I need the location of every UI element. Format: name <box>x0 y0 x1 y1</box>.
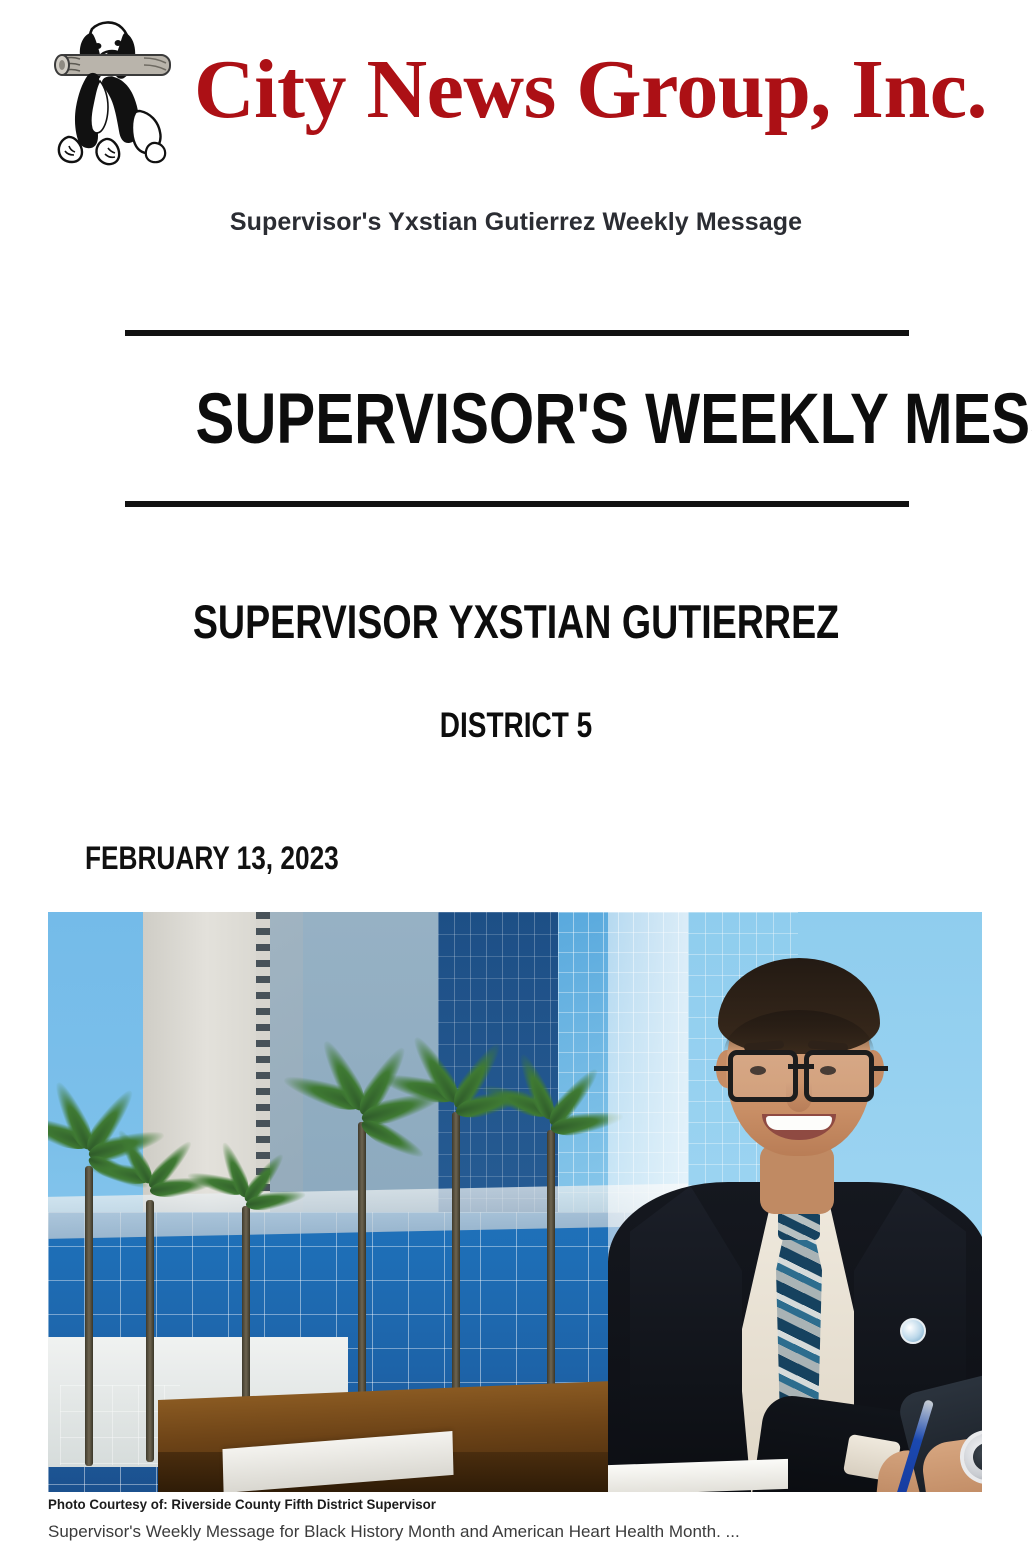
publication-date: FEBRUARY 13, 2023 <box>85 842 339 874</box>
eyeglasses-icon <box>728 1050 874 1094</box>
portrait-hair <box>718 958 880 1054</box>
district-label: DISTRICT 5 <box>103 708 929 743</box>
glasses-lens-right <box>804 1050 874 1102</box>
dog-with-newspaper-icon <box>48 19 188 167</box>
glasses-temple-right <box>872 1066 888 1071</box>
site-logo-text: City News Group, Inc. <box>194 48 987 132</box>
supervisor-name: SUPERVISOR YXSTIAN GUTIERREZ <box>103 598 929 645</box>
masthead: City News Group, Inc. <box>0 0 1032 185</box>
glasses-bridge <box>788 1064 814 1069</box>
rule-bottom <box>125 501 909 507</box>
portrait-lapel-pin <box>900 1318 926 1344</box>
portrait-tie-knot <box>778 1210 820 1240</box>
page-title: SUPERVISOR'S WEEKLY MESSAGE <box>196 336 839 501</box>
newsletter-subject-line: Supervisor's Yxstian Gutierrez Weekly Me… <box>0 208 1032 237</box>
glasses-temple-left <box>714 1066 730 1071</box>
site-logo[interactable]: City News Group, Inc. <box>48 18 978 168</box>
article-summary: Supervisor's Weekly Message for Black Hi… <box>48 1522 740 1542</box>
photo-credit: Photo Courtesy of: Riverside County Fift… <box>48 1496 436 1512</box>
portrait-teeth <box>766 1116 832 1130</box>
article-photo[interactable] <box>48 912 982 1492</box>
glasses-lens-left <box>728 1050 798 1102</box>
photo-supervisor-portrait <box>608 932 982 1492</box>
newsletter-page: City News Group, Inc. Supervisor's Yxsti… <box>0 0 1032 1559</box>
title-block: SUPERVISOR'S WEEKLY MESSAGE <box>125 330 909 507</box>
photo-notepad <box>608 1459 788 1492</box>
